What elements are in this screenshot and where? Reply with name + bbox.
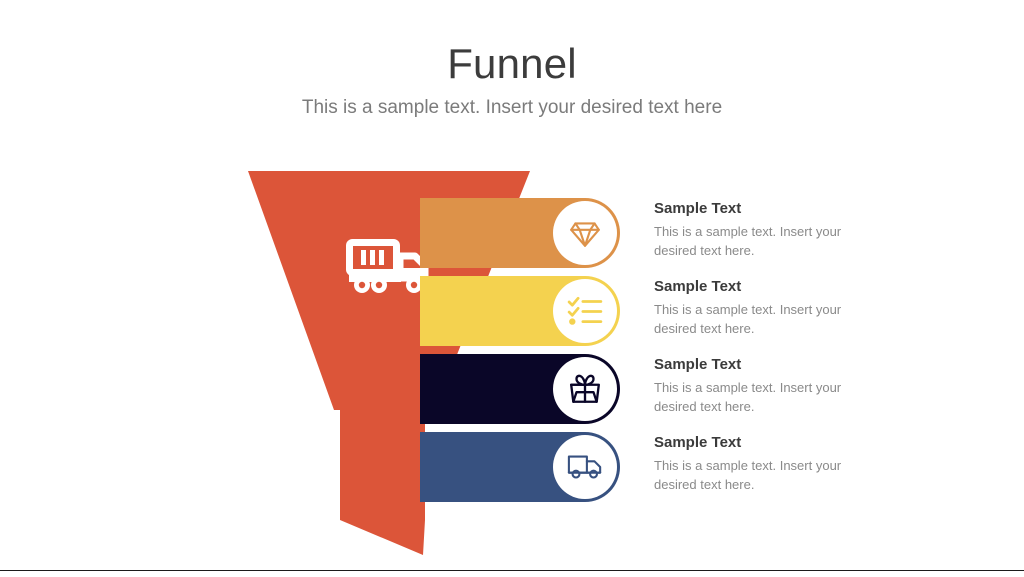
stage-description-3: This is a sample text. Insert your desir… <box>654 378 869 416</box>
bottom-divider <box>0 570 1024 571</box>
stage-description-2: This is a sample text. Insert your desir… <box>654 300 869 338</box>
gift-box-icon <box>568 373 602 405</box>
stage-heading-2: Sample Text <box>654 277 904 297</box>
stage-icon-wrap-1[interactable] <box>553 201 617 265</box>
funnel-stage-2[interactable] <box>420 276 620 346</box>
stage-description-1: This is a sample text. Insert your desir… <box>654 222 869 260</box>
slide-canvas: Funnel This is a sample text. Insert you… <box>0 0 1024 577</box>
stage-heading-3: Sample Text <box>654 355 904 375</box>
stage-text-2: Sample Text This is a sample text. Inser… <box>654 277 904 338</box>
stage-icon-wrap-3[interactable] <box>553 357 617 421</box>
delivery-truck-icon <box>567 453 603 481</box>
checklist-icon <box>567 295 603 327</box>
page-title: Funnel <box>0 38 1024 90</box>
diamond-icon <box>568 216 602 250</box>
funnel-stage-1[interactable] <box>420 198 620 268</box>
stage-text-1: Sample Text This is a sample text. Inser… <box>654 199 904 260</box>
stage-heading-4: Sample Text <box>654 433 904 453</box>
stage-text-3: Sample Text This is a sample text. Inser… <box>654 355 904 416</box>
stage-text-4: Sample Text This is a sample text. Inser… <box>654 433 904 494</box>
page-subtitle: This is a sample text. Insert your desir… <box>0 95 1024 121</box>
funnel-stage-4[interactable] <box>420 432 620 502</box>
funnel-stage-3[interactable] <box>420 354 620 424</box>
stage-heading-1: Sample Text <box>654 199 904 219</box>
stage-icon-wrap-2[interactable] <box>553 279 617 343</box>
stage-description-4: This is a sample text. Insert your desir… <box>654 456 869 494</box>
stage-icon-wrap-4[interactable] <box>553 435 617 499</box>
